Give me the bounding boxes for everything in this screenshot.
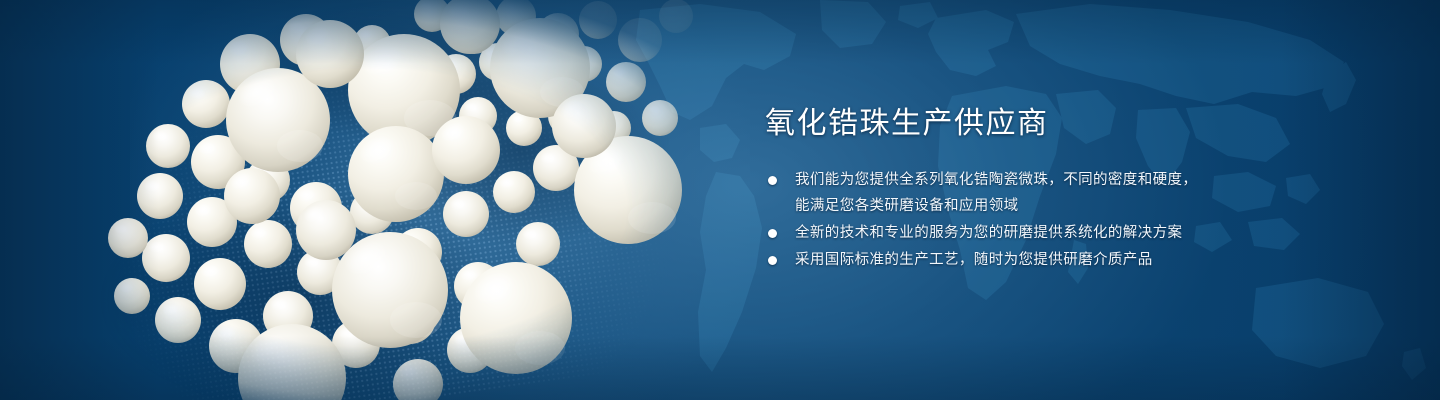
page-title: 氧化锆珠生产供应商 [765,104,1285,144]
list-item: 采用国际标准的生产工艺，随时为您提供研磨介质产品 [765,247,1285,273]
bullet-dot-icon [768,176,777,185]
list-item: 全新的技术和专业的服务为您的研磨提供系统化的解决方案 [765,220,1285,246]
bullet-line: 全新的技术和专业的服务为您的研磨提供系统化的解决方案 [795,220,1285,246]
bullet-dot-icon [768,229,777,238]
hero-banner: 氧化锆珠生产供应商 我们能为您提供全系列氧化锆陶瓷微珠，不同的密度和硬度， 能满… [0,0,1440,400]
feature-bullet-list: 我们能为您提供全系列氧化锆陶瓷微珠，不同的密度和硬度， 能满足您各类研磨设备和应… [765,167,1285,273]
bullet-line: 采用国际标准的生产工艺，随时为您提供研磨介质产品 [795,247,1285,273]
bullet-dot-icon [768,256,777,265]
banner-copy-block: 氧化锆珠生产供应商 我们能为您提供全系列氧化锆陶瓷微珠，不同的密度和硬度， 能满… [765,104,1285,274]
zirconia-beads-image [0,0,740,400]
bead-backlight-glow [130,0,750,400]
bullet-line: 能满足您各类研磨设备和应用领域 [795,193,1285,219]
list-item: 我们能为您提供全系列氧化锆陶瓷微珠，不同的密度和硬度， 能满足您各类研磨设备和应… [765,167,1285,219]
halftone-mesh-texture [65,0,754,400]
bullet-line: 我们能为您提供全系列氧化锆陶瓷微珠，不同的密度和硬度， [795,167,1285,193]
